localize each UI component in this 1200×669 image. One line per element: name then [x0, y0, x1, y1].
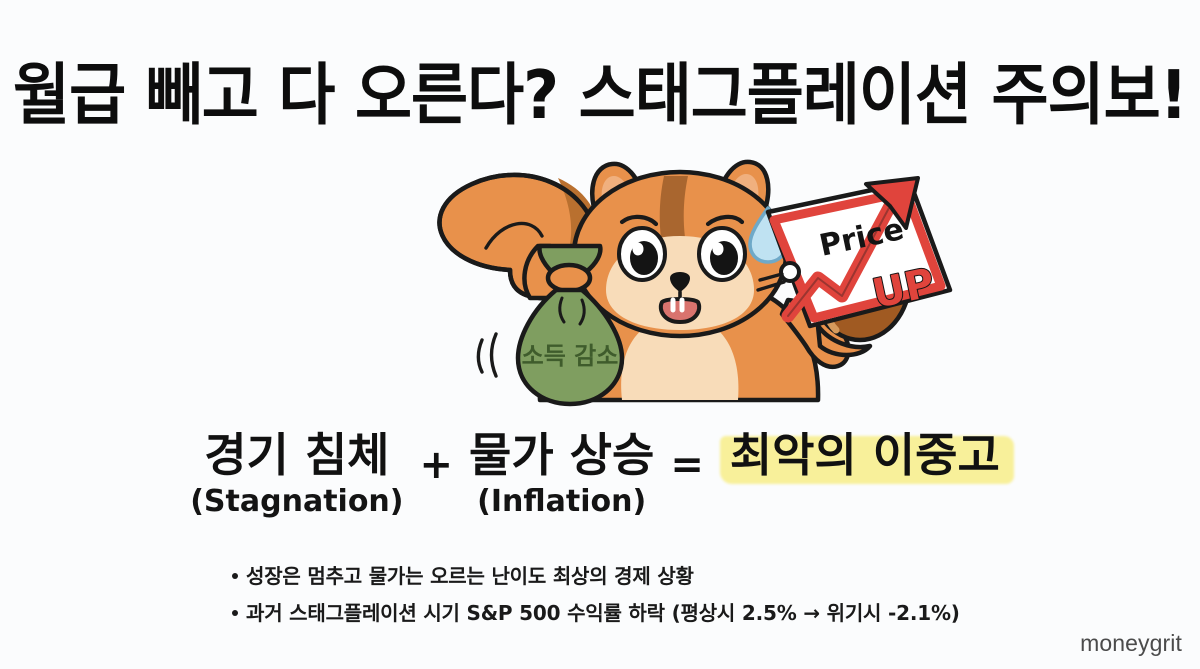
slide-canvas: 월급 빼고 다 오른다? 스태그플레이션 주의보!: [0, 0, 1200, 669]
equation-row: 경기 침체 (Stagnation) + 물가 상승 (Inflation) =…: [0, 432, 1200, 517]
term-en-inflation: (Inflation): [477, 487, 646, 517]
page-title: 월급 빼고 다 오른다? 스태그플레이션 주의보!: [0, 40, 1200, 137]
term-kr-stagnation: 경기 침체: [204, 432, 389, 478]
operator-plus: +: [404, 442, 470, 488]
bullet-list: 성장은 멈추고 물가는 오르는 난이도 최상의 경제 상황 과거 스태그플레이션…: [232, 566, 1032, 640]
highlight-wrapper: 최악의 이중고: [720, 432, 1010, 478]
bullet-text: 과거 스태그플레이션 시기 S&P 500 수익률 하락 (평상시 2.5% →…: [246, 601, 960, 625]
term-kr-inflation: 물가 상승: [469, 432, 654, 478]
motion-lines: [478, 334, 496, 376]
equation-term-result: 최악의 이중고: [720, 432, 1010, 478]
money-bag-label: 소득 감소: [522, 342, 619, 370]
bullet-dot-icon: [232, 573, 238, 579]
operator-equals: =: [654, 442, 720, 488]
list-item: 성장은 멈추고 물가는 오르는 난이도 최상의 경제 상황: [232, 566, 1032, 586]
term-en-stagnation: (Stagnation): [190, 487, 403, 517]
squirrel-illustration: 소득 감소: [390, 150, 990, 410]
watermark: moneygrit: [1080, 630, 1182, 657]
list-item: 과거 스태그플레이션 시기 S&P 500 수익률 하락 (평상시 2.5% →…: [232, 603, 1032, 623]
equation-term-inflation: 물가 상승 (Inflation): [469, 432, 654, 517]
squirrel-head: [574, 162, 786, 336]
equation-term-stagnation: 경기 침체 (Stagnation): [190, 432, 403, 517]
bullet-text: 성장은 멈추고 물가는 오르는 난이도 최상의 경제 상황: [246, 564, 694, 588]
term-kr-result: 최악의 이중고: [730, 432, 1000, 478]
bullet-dot-icon: [232, 610, 238, 616]
